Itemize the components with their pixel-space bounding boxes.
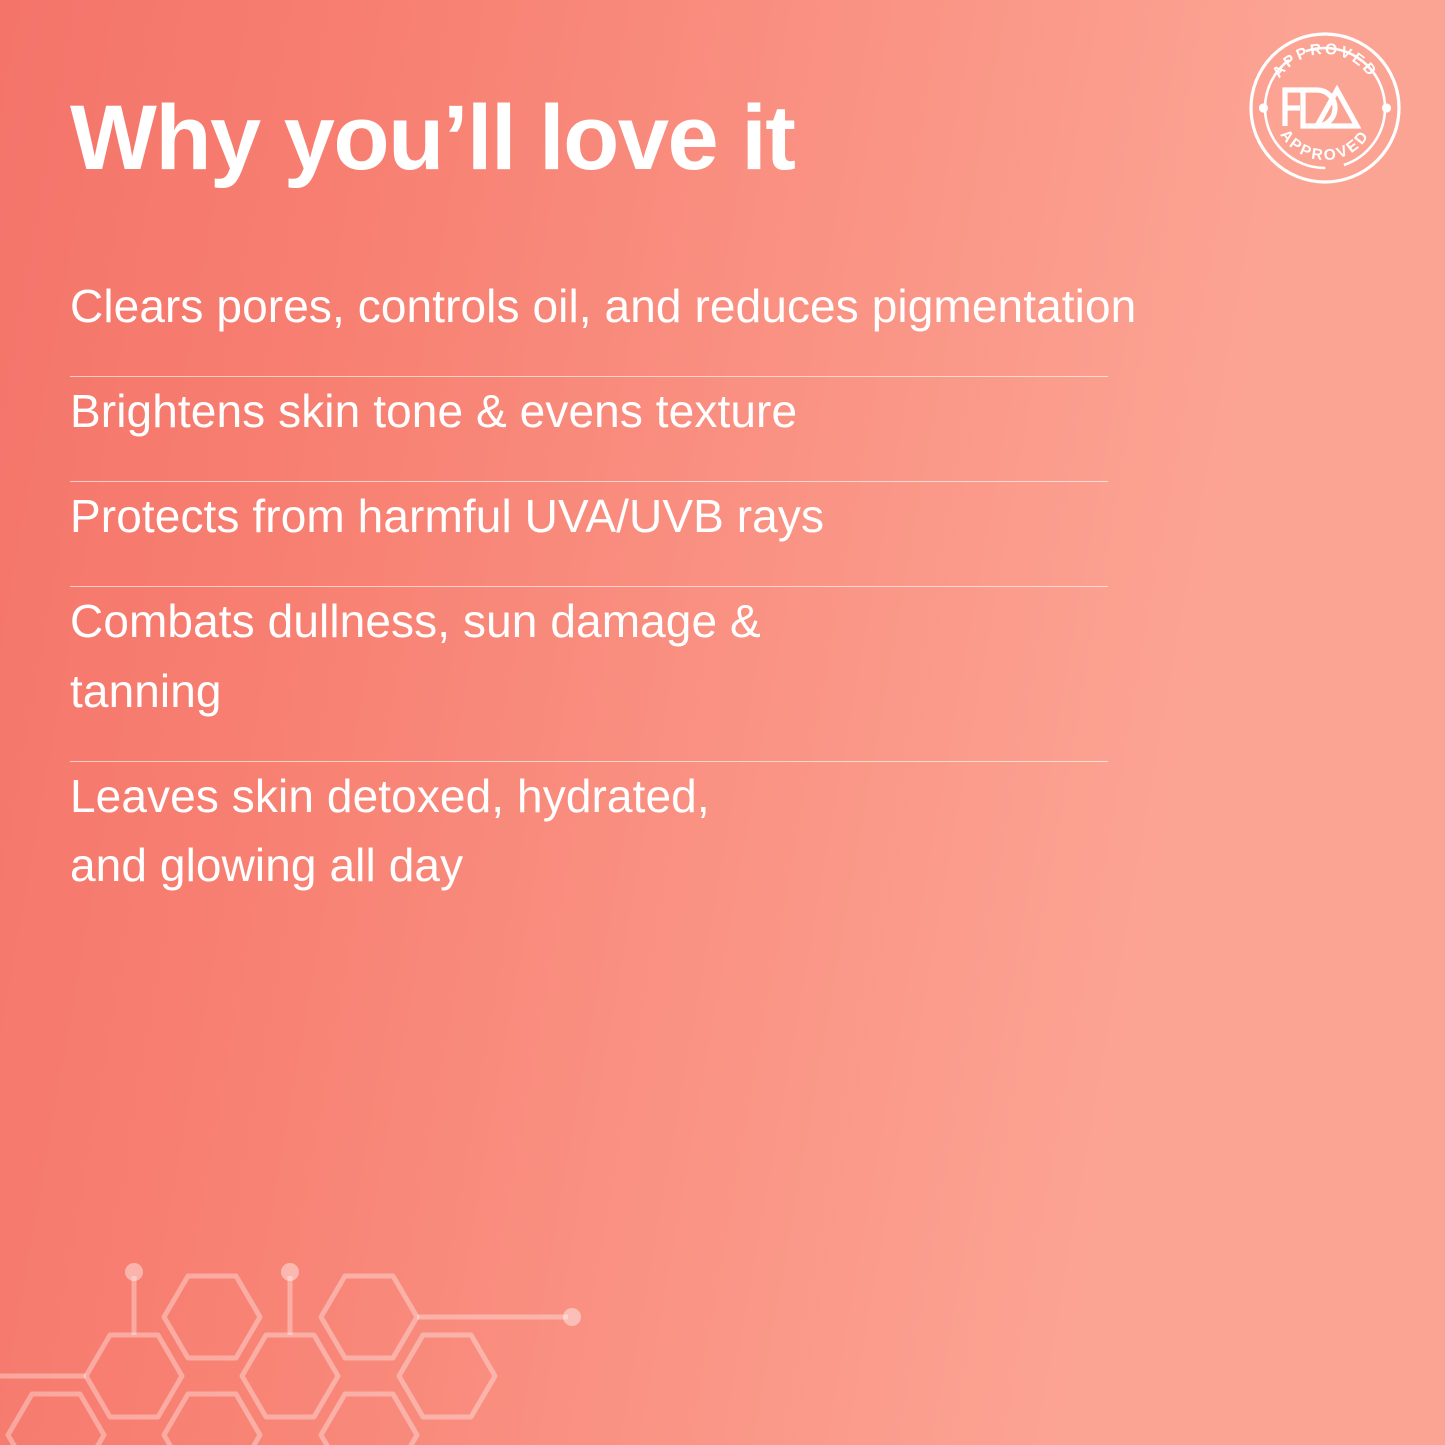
promo-card: APPROVED APPROVED Why you’ll love it Cle…: [0, 0, 1445, 1445]
benefit-text: Combats dullness, sun damage & tanning: [70, 587, 1360, 727]
page-title: Why you’ll love it: [70, 92, 794, 184]
benefit-text: Clears pores, controls oil, and reduces …: [70, 272, 1360, 342]
list-item: Clears pores, controls oil, and reduces …: [70, 272, 1360, 376]
benefit-text: Protects from harmful UVA/UVB rays: [70, 482, 1360, 552]
fda-approved-badge: APPROVED APPROVED: [1245, 28, 1405, 188]
list-item: Protects from harmful UVA/UVB rays: [70, 482, 1360, 586]
benefit-text: Leaves skin detoxed, hydrated, and glowi…: [70, 762, 1360, 902]
list-item: Leaves skin detoxed, hydrated, and glowi…: [70, 762, 1360, 936]
list-item: Combats dullness, sun damage & tanning: [70, 587, 1360, 761]
benefits-list: Clears pores, controls oil, and reduces …: [70, 272, 1360, 935]
benefit-text: Brightens skin tone & evens texture: [70, 377, 1360, 447]
hexagon-honeycomb-pattern: [0, 1215, 700, 1445]
list-item: Brightens skin tone & evens texture: [70, 377, 1360, 481]
